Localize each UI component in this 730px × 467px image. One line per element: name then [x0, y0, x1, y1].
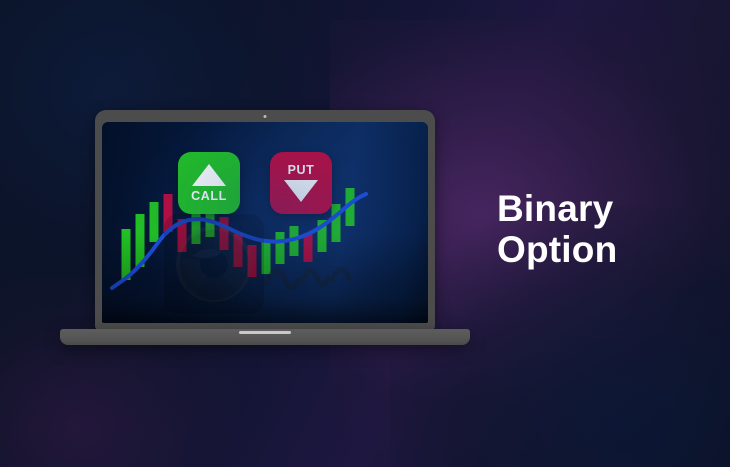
candlestick-up — [276, 232, 285, 264]
page-title-line-2: Option — [497, 229, 617, 270]
candlestick-up — [192, 209, 201, 244]
candlestick-down — [248, 245, 257, 277]
candlestick-down — [304, 234, 313, 262]
laptop-lid: CALL PUT — [95, 110, 435, 330]
candlestick-down — [220, 217, 229, 250]
laptop-screen: CALL PUT — [102, 122, 428, 323]
put-button-label: PUT — [288, 164, 315, 177]
poster-scene: CALL PUT Binary Option — [0, 0, 730, 467]
webcam-icon — [264, 115, 267, 118]
laptop-base-notch — [239, 331, 291, 334]
candlestick-up — [262, 241, 271, 274]
arrow-down-icon — [284, 180, 318, 202]
put-button[interactable]: PUT — [270, 152, 332, 214]
laptop-base — [60, 329, 470, 345]
candlestick-up — [122, 229, 131, 280]
candlestick-chart — [102, 122, 428, 323]
arrow-up-icon — [192, 164, 226, 186]
call-button[interactable]: CALL — [178, 152, 240, 214]
call-button-label: CALL — [191, 190, 227, 203]
candlestick-down — [234, 234, 243, 267]
laptop-illustration: CALL PUT — [60, 110, 470, 360]
page-title-line-1: Binary — [497, 188, 617, 229]
candlestick-up — [150, 202, 159, 242]
page-title: Binary Option — [497, 188, 617, 271]
candlestick-up — [332, 204, 341, 242]
